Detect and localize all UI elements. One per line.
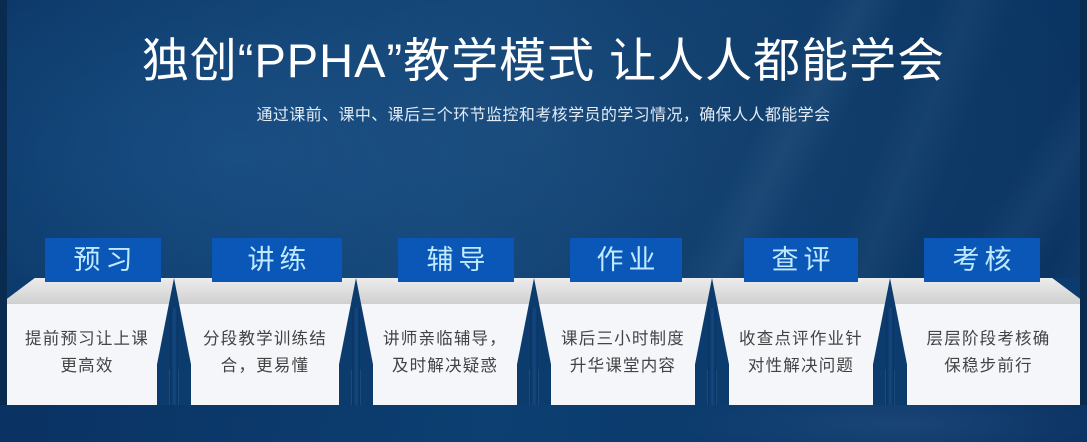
step-tab-label: 考核 bbox=[948, 247, 1017, 274]
step-card-6: 层层阶段考核确保稳步前行 bbox=[890, 301, 1087, 405]
left-edge-rail bbox=[0, 0, 7, 442]
step-tab-1[interactable]: 预习 bbox=[45, 238, 161, 282]
process-steps-row: 预习提前预习让上课更高效讲练分段教学训练结合，更易懂辅导讲师亲临辅导，及时解决疑… bbox=[0, 238, 1087, 405]
step-tab-label: 预习 bbox=[69, 247, 138, 274]
step-tab-2[interactable]: 讲练 bbox=[212, 238, 342, 282]
step-card-line-1: 课后三小时制度 bbox=[561, 326, 685, 353]
right-edge-rail bbox=[1080, 0, 1087, 442]
step-card-5: 收查点评作业针对性解决问题 bbox=[712, 301, 890, 405]
step-card-line-1: 层层阶段考核确 bbox=[927, 326, 1051, 353]
step-card-line-2: 合，更易懂 bbox=[203, 353, 327, 380]
step-card-line-1: 收查点评作业针 bbox=[739, 326, 863, 353]
step-tab-label: 作业 bbox=[592, 247, 661, 274]
banner-heading-group: 独创“PPHA”教学模式 让人人都能学会 通过课前、课中、课后三个环节监控和考核… bbox=[0, 0, 1087, 128]
step-card-line-2: 对性解决问题 bbox=[739, 353, 863, 380]
step-card-line-1: 提前预习让上课 bbox=[25, 326, 149, 353]
step-card-3: 讲师亲临辅导，及时解决疑惑 bbox=[356, 301, 534, 405]
step-tab-3[interactable]: 辅导 bbox=[398, 238, 514, 282]
step-card-line-2: 保稳步前行 bbox=[927, 353, 1051, 380]
step-card-1: 提前预习让上课更高效 bbox=[0, 301, 174, 405]
step-card-line-1: 分段教学训练结 bbox=[203, 326, 327, 353]
step-card-line-2: 更高效 bbox=[25, 353, 149, 380]
step-tab-6[interactable]: 考核 bbox=[924, 238, 1040, 282]
step-card-line-1: 讲师亲临辅导， bbox=[383, 326, 507, 353]
step-tab-label: 查评 bbox=[767, 247, 836, 274]
banner-subtitle: 通过课前、课中、课后三个环节监控和考核学员的学习情况，确保人人都能学会 bbox=[0, 88, 1087, 128]
step-tab-label: 辅导 bbox=[422, 247, 491, 274]
banner-title: 独创“PPHA”教学模式 让人人都能学会 bbox=[0, 0, 1087, 88]
promo-banner: 独创“PPHA”教学模式 让人人都能学会 通过课前、课中、课后三个环节监控和考核… bbox=[0, 0, 1087, 442]
step-tab-4[interactable]: 作业 bbox=[570, 238, 682, 282]
step-card-line-2: 升华课堂内容 bbox=[561, 353, 685, 380]
step-tab-label: 讲练 bbox=[243, 247, 312, 274]
step-card-2: 分段教学训练结合，更易懂 bbox=[174, 301, 356, 405]
step-card-4: 课后三小时制度升华课堂内容 bbox=[534, 301, 712, 405]
step-tab-5[interactable]: 查评 bbox=[744, 238, 858, 282]
bottom-bar bbox=[0, 405, 1087, 442]
step-card-line-2: 及时解决疑惑 bbox=[383, 353, 507, 380]
